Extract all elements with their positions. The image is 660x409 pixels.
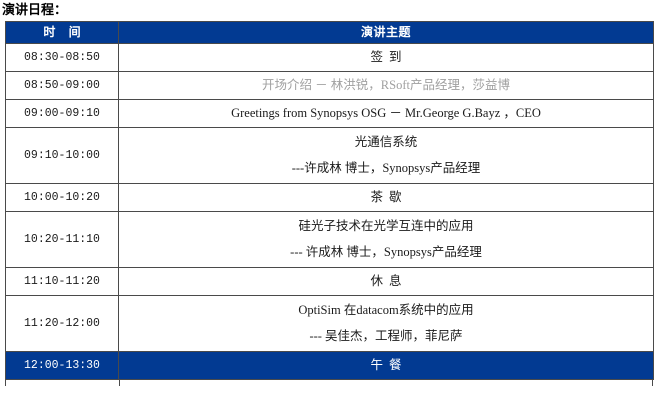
table-row[interactable]: 09:10-10:00光通信系统---许成林 博士，Synopsys产品经理 xyxy=(6,128,654,184)
column-header-time: 时 间 xyxy=(6,22,119,44)
cell-topic: Greetings from Synopsys OSG － Mr.George … xyxy=(119,100,654,128)
schedule-page: 演讲日程： 时 间 演讲主题 08:30-08:50签到08:50-09:00开… xyxy=(0,0,660,409)
schedule-table: 时 间 演讲主题 08:30-08:50签到08:50-09:00开场介绍 － … xyxy=(5,21,654,380)
cell-time: 08:50-09:00 xyxy=(6,72,119,100)
cell-time: 11:20-12:00 xyxy=(6,296,119,352)
cell-topic: 茶歇 xyxy=(119,184,654,212)
table-row[interactable]: 11:20-12:00OptiSim 在datacom系统中的应用--- 吴佳杰… xyxy=(6,296,654,352)
cell-topic: 开场介绍 － 林洪锐，RSoft产品经理，莎益博 xyxy=(119,72,654,100)
cell-time: 09:00-09:10 xyxy=(6,100,119,128)
table-row[interactable]: 12:00-13:30午餐 xyxy=(6,352,654,380)
table-row[interactable]: 08:30-08:50签到 xyxy=(6,44,654,72)
table-row[interactable]: 10:20-11:10硅光子技术在光学互连中的应用--- 许成林 博士，Syno… xyxy=(6,212,654,268)
topic-line: --- 许成林 博士，Synopsys产品经理 xyxy=(119,243,653,262)
cell-time: 10:00-10:20 xyxy=(6,184,119,212)
topic-line: Greetings from Synopsys OSG － Mr.George … xyxy=(119,104,653,123)
cell-topic: OptiSim 在datacom系统中的应用--- 吴佳杰，工程师，菲尼萨 xyxy=(119,296,654,352)
cell-time: 10:20-11:10 xyxy=(6,212,119,268)
topic-line: 硅光子技术在光学互连中的应用 xyxy=(119,217,653,236)
cell-topic: 休息 xyxy=(119,268,654,296)
table-row[interactable]: 08:50-09:00开场介绍 － 林洪锐，RSoft产品经理，莎益博 xyxy=(6,72,654,100)
cell-time: 09:10-10:00 xyxy=(6,128,119,184)
page-title: 演讲日程： xyxy=(0,0,660,21)
topic-line: 午餐 xyxy=(119,356,653,375)
cell-time: 12:00-13:30 xyxy=(6,352,119,380)
cell-time: 08:30-08:50 xyxy=(6,44,119,72)
cell-topic: 光通信系统---许成林 博士，Synopsys产品经理 xyxy=(119,128,654,184)
topic-line: 开场介绍 － 林洪锐，RSoft产品经理，莎益博 xyxy=(119,76,653,95)
table-header-row: 时 间 演讲主题 xyxy=(6,22,654,44)
topic-line: 光通信系统 xyxy=(119,133,653,152)
table-row[interactable]: 10:00-10:20茶歇 xyxy=(6,184,654,212)
table-row[interactable]: 09:00-09:10Greetings from Synopsys OSG －… xyxy=(6,100,654,128)
topic-line: 签到 xyxy=(119,48,653,67)
topic-line: ---许成林 博士，Synopsys产品经理 xyxy=(119,159,653,178)
cell-time: 11:10-11:20 xyxy=(6,268,119,296)
cell-topic: 签到 xyxy=(119,44,654,72)
topic-line: OptiSim 在datacom系统中的应用 xyxy=(119,301,653,320)
cell-topic: 午餐 xyxy=(119,352,654,380)
column-header-topic: 演讲主题 xyxy=(119,22,654,44)
topic-line: 休息 xyxy=(119,272,653,291)
table-body: 08:30-08:50签到08:50-09:00开场介绍 － 林洪锐，RSoft… xyxy=(6,44,654,380)
table-row[interactable]: 11:10-11:20休息 xyxy=(6,268,654,296)
table-clipped-row xyxy=(5,380,653,386)
topic-line: --- 吴佳杰，工程师，菲尼萨 xyxy=(119,327,653,346)
column-divider xyxy=(119,380,120,386)
topic-line: 茶歇 xyxy=(119,188,653,207)
cell-topic: 硅光子技术在光学互连中的应用--- 许成林 博士，Synopsys产品经理 xyxy=(119,212,654,268)
